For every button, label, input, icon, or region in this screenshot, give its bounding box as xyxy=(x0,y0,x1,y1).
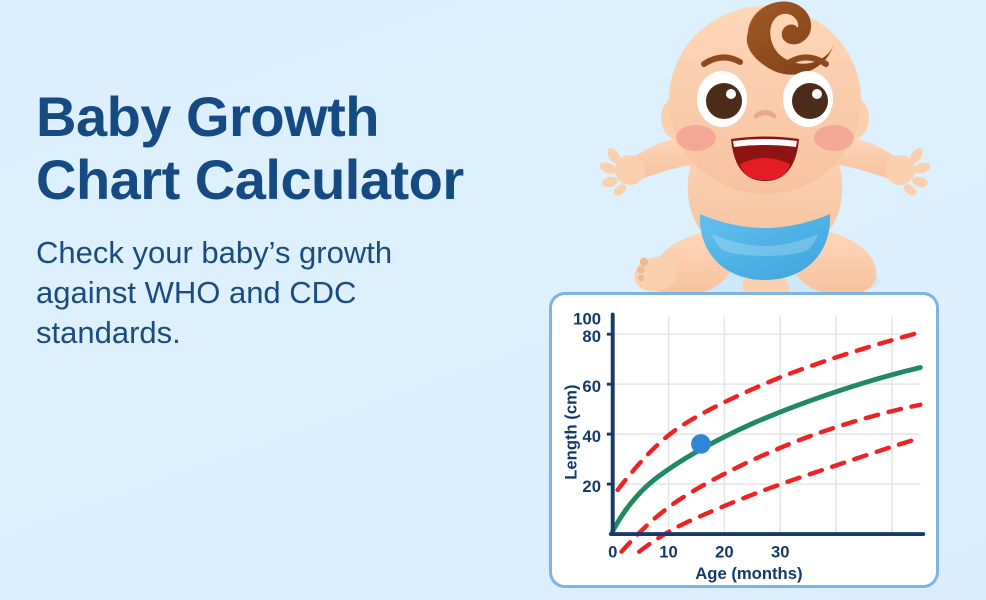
growth-chart-card[interactable]: 100 80 60 40 20 0 10 20 30 Age (months) … xyxy=(549,292,939,588)
baby-right-eye-glint xyxy=(812,89,822,99)
baby-illustration xyxy=(600,0,930,326)
percentile-curve-15 xyxy=(622,405,921,552)
x-tick-label-10: 10 xyxy=(659,543,678,562)
hero-banner: Baby Growth Chart Calculator Check your … xyxy=(0,0,986,600)
x-tick-label-20: 20 xyxy=(715,543,734,562)
y-tick-label-100: 100 xyxy=(573,309,601,328)
x-tick-label-30: 30 xyxy=(771,543,790,562)
baby-left-hand xyxy=(600,146,645,198)
baby-left-cheek xyxy=(676,125,716,151)
chart-x-axis-label: Age (months) xyxy=(695,564,802,583)
baby-measurement-point[interactable] xyxy=(691,434,711,454)
hero-copy: Baby Growth Chart Calculator Check your … xyxy=(36,86,576,352)
y-tick-label-80: 80 xyxy=(582,327,601,346)
page-title: Baby Growth Chart Calculator xyxy=(36,86,576,211)
baby-left-eye-glint xyxy=(726,89,736,99)
chart-gridlines-horizontal xyxy=(613,334,921,484)
page-subtitle: Check your baby’s growth against WHO and… xyxy=(36,233,506,352)
growth-chart[interactable]: 100 80 60 40 20 0 10 20 30 Age (months) … xyxy=(552,295,936,585)
percentile-curve-50 xyxy=(613,368,921,532)
x-tick-label-0: 0 xyxy=(608,543,617,562)
baby-left-pupil xyxy=(706,83,742,119)
y-tick-label-60: 60 xyxy=(582,377,601,396)
chart-y-axis-label: Length (cm) xyxy=(561,385,580,480)
y-tick-label-20: 20 xyxy=(582,477,601,496)
baby-right-hand xyxy=(885,146,930,198)
baby-right-pupil xyxy=(792,83,828,119)
baby-right-cheek xyxy=(814,125,854,151)
percentile-curve-97 xyxy=(618,332,921,490)
y-tick-label-40: 40 xyxy=(582,427,601,446)
